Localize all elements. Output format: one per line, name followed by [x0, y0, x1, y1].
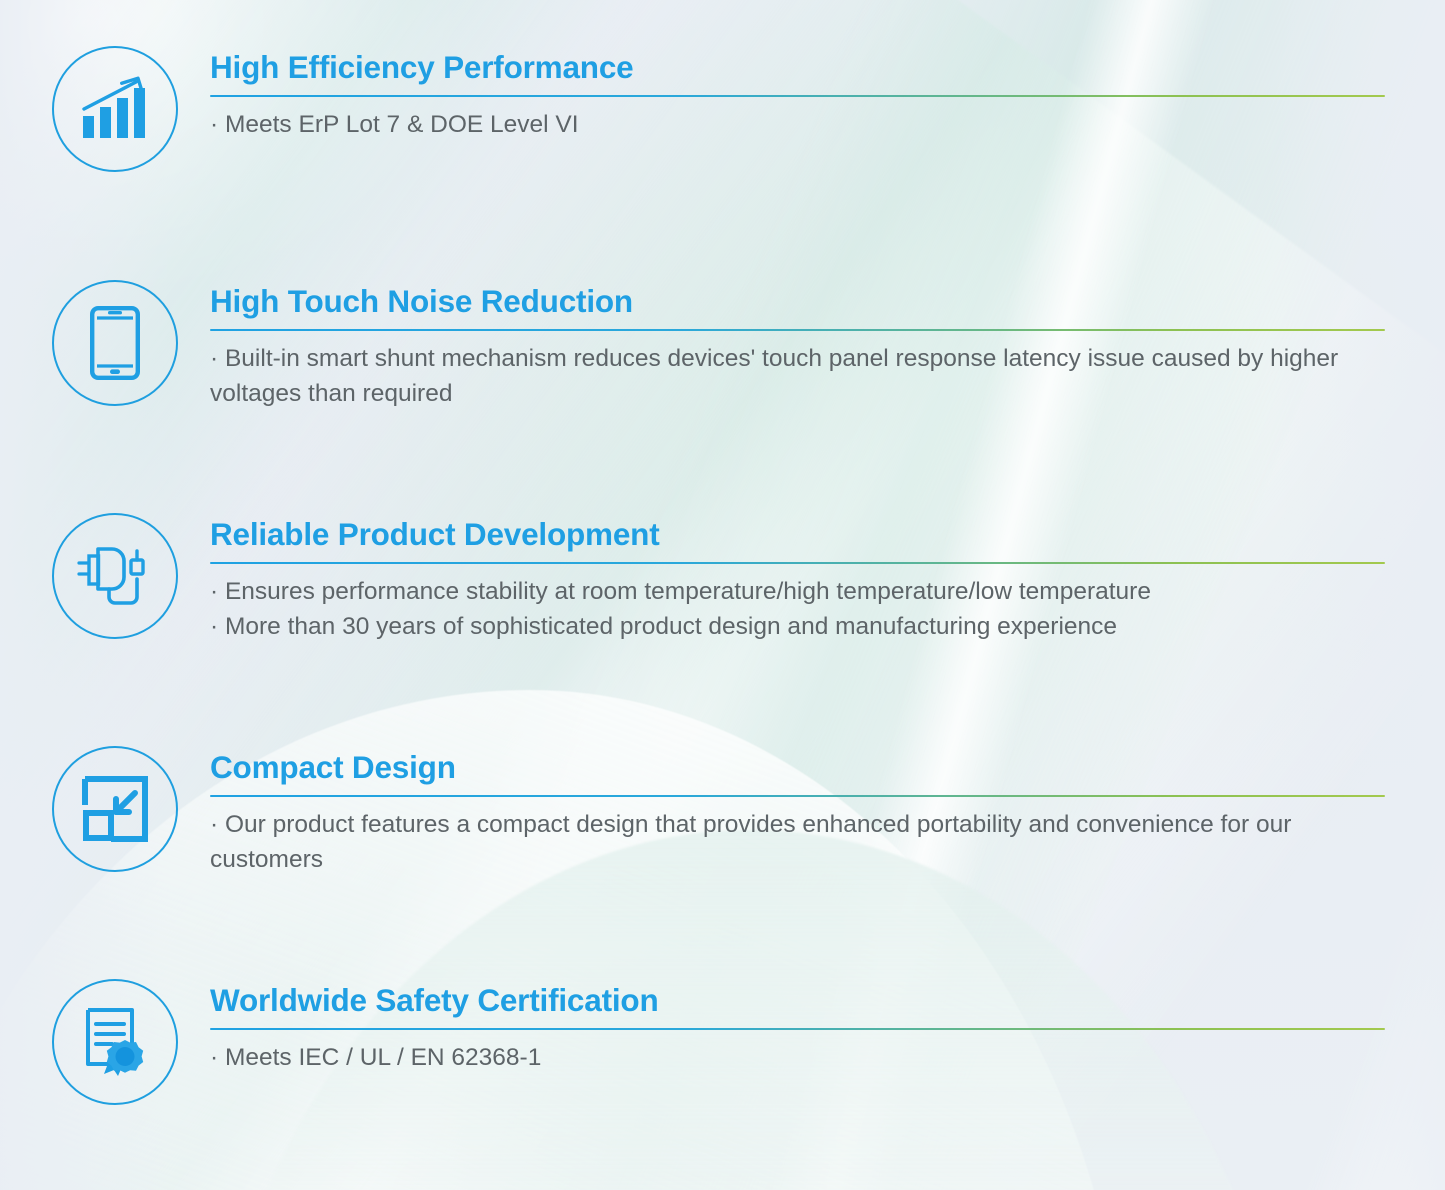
feature-item-worldwide-safety-certification: Worldwide Safety Certification · Meets I… — [52, 979, 1385, 1105]
feature-bullet: · Meets IEC / UL / EN 62368-1 — [210, 1041, 1385, 1076]
icon-circle — [52, 513, 178, 639]
feature-item-reliable-product-development: Reliable Product Development · Ensures p… — [52, 513, 1385, 645]
smartphone-icon — [90, 306, 140, 380]
power-adapter-icon — [76, 543, 154, 609]
feature-title: High Efficiency Performance — [210, 50, 1385, 85]
compact-resize-icon — [81, 775, 149, 843]
feature-divider-rule — [210, 562, 1385, 565]
feature-item-high-touch-noise-reduction: High Touch Noise Reduction · Built-in sm… — [52, 280, 1385, 412]
feature-text-block: Compact Design · Our product features a … — [210, 746, 1385, 878]
feature-title: Worldwide Safety Certification — [210, 983, 1385, 1018]
feature-title: High Touch Noise Reduction — [210, 284, 1385, 319]
bar-chart-growth-icon — [79, 76, 151, 142]
feature-bullet: · Ensures performance stability at room … — [210, 575, 1385, 610]
feature-text-block: High Efficiency Performance · Meets ErP … — [210, 46, 1385, 143]
icon-circle — [52, 746, 178, 872]
feature-bullets: · Built-in smart shunt mechanism reduces… — [210, 342, 1385, 412]
icon-circle — [52, 979, 178, 1105]
certificate-seal-icon — [80, 1006, 150, 1078]
feature-bullet: · Built-in smart shunt mechanism reduces… — [210, 342, 1385, 412]
feature-bullets: · Ensures performance stability at room … — [210, 575, 1385, 645]
feature-text-block: High Touch Noise Reduction · Built-in sm… — [210, 280, 1385, 412]
icon-circle — [52, 280, 178, 406]
feature-item-high-efficiency-performance: High Efficiency Performance · Meets ErP … — [52, 46, 1385, 172]
feature-divider-rule — [210, 329, 1385, 332]
feature-bullets: · Meets ErP Lot 7 & DOE Level VI — [210, 108, 1385, 143]
icon-circle — [52, 46, 178, 172]
feature-title: Compact Design — [210, 750, 1385, 785]
feature-bullet: · More than 30 years of sophisticated pr… — [210, 610, 1385, 645]
feature-item-compact-design: Compact Design · Our product features a … — [52, 746, 1385, 878]
feature-bullets: · Our product features a compact design … — [210, 808, 1385, 878]
feature-bullets: · Meets IEC / UL / EN 62368-1 — [210, 1041, 1385, 1076]
feature-bullet: · Our product features a compact design … — [210, 808, 1385, 878]
feature-highlights-page: High Efficiency Performance · Meets ErP … — [0, 0, 1445, 1190]
feature-text-block: Reliable Product Development · Ensures p… — [210, 513, 1385, 645]
feature-divider-rule — [210, 1028, 1385, 1031]
feature-divider-rule — [210, 795, 1385, 798]
feature-title: Reliable Product Development — [210, 517, 1385, 552]
feature-divider-rule — [210, 95, 1385, 98]
feature-text-block: Worldwide Safety Certification · Meets I… — [210, 979, 1385, 1076]
feature-bullet: · Meets ErP Lot 7 & DOE Level VI — [210, 108, 1385, 143]
